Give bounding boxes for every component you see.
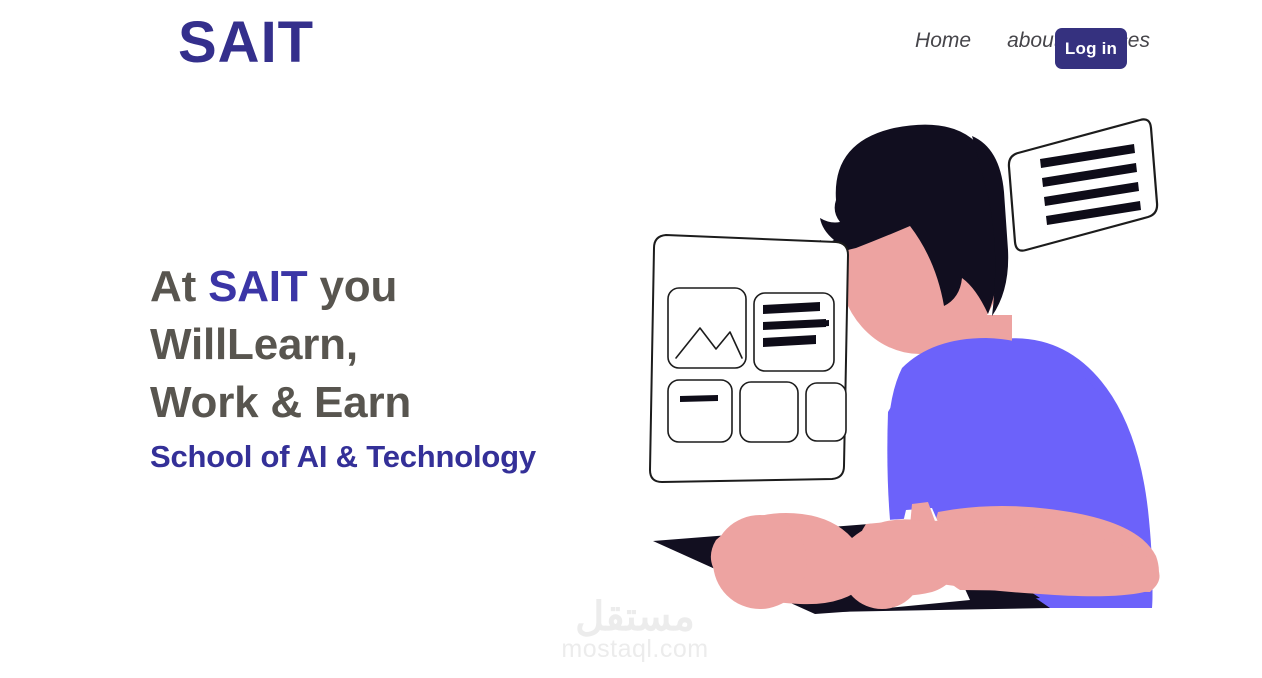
small-tile-3 (806, 383, 846, 441)
headline-brand: SAIT (208, 262, 307, 311)
small-tile-1 (668, 380, 732, 442)
small-tile-2 (740, 382, 798, 442)
headline-prefix: At (150, 262, 208, 311)
hero-subheadline: School of AI & Technology (150, 438, 670, 477)
mountain-thumbnail-tile (668, 288, 746, 368)
brand-logo[interactable]: SAIT (178, 14, 314, 72)
hand-left (713, 515, 807, 609)
hero-copy: At SAIT you WillLearn, Work & Earn Schoo… (150, 258, 670, 477)
message-card-icon (1009, 119, 1157, 250)
site-header: SAIT Home about Prices Log in (0, 0, 1262, 96)
login-button[interactable]: Log in (1055, 28, 1127, 69)
nav-link-home[interactable]: Home (915, 30, 971, 51)
hero-headline: At SAIT you WillLearn, Work & Earn (150, 258, 670, 432)
nav-link-about[interactable]: about (1007, 30, 1060, 51)
landing-page: SAIT Home about Prices Log in At SAIT yo… (0, 0, 1262, 678)
small-tile-dash (680, 395, 718, 402)
ui-wireframe-card (650, 235, 848, 482)
student-at-laptop-illustration (620, 100, 1262, 678)
